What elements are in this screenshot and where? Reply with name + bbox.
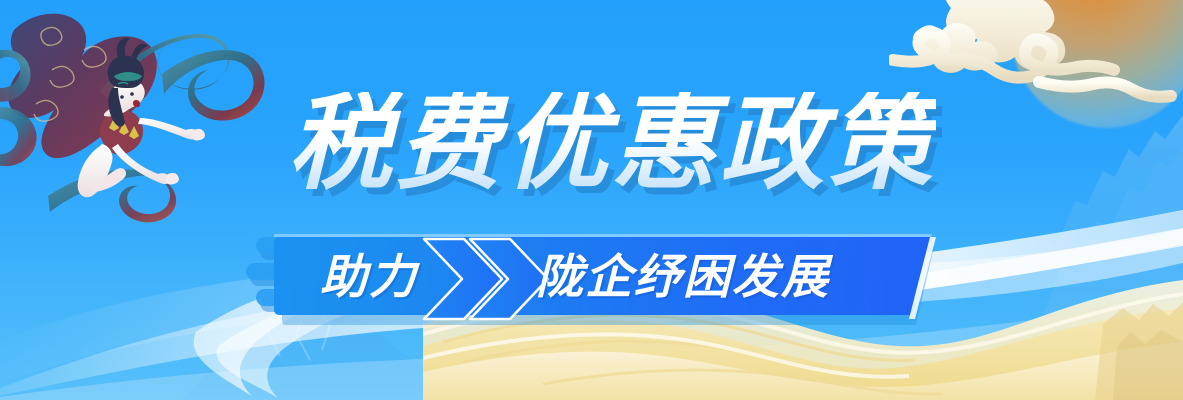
flying-apsara-illustration <box>0 0 292 226</box>
subtitle-left-text: 助力 <box>320 253 418 300</box>
subtitle-banner: 助力 陇企纾困发展 <box>256 233 936 325</box>
promo-banner: 税费优惠政策 助力 <box>0 0 1183 400</box>
subtitle-right-text: 陇企纾困发展 <box>536 253 830 300</box>
mountain-silhouette-right <box>1033 105 1183 400</box>
banner-plate-topline <box>274 234 934 237</box>
title-text: 税费优惠政策 <box>288 92 936 196</box>
banner-alt-text: 税费优惠政策 助力 陇企纾困发展 <box>0 0 1 1</box>
sun-icon <box>1011 0 1183 128</box>
page-title: 税费优惠政策 <box>288 84 948 204</box>
